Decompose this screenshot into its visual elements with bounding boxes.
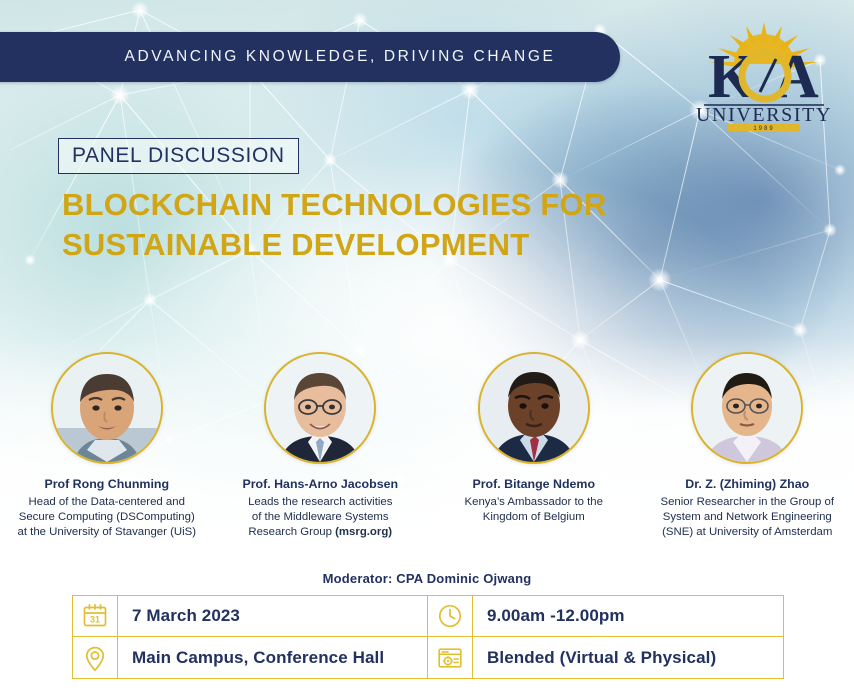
presentation-screen-icon xyxy=(428,637,473,678)
detail-value-format: Blended (Virtual & Physical) xyxy=(473,637,783,678)
speaker-desc-line: Kenya’s Ambassador to the xyxy=(465,495,603,510)
svg-text:A: A xyxy=(774,43,819,111)
speaker-list: Prof Rong Chunming Head of the Data-cent… xyxy=(0,352,854,540)
logo-year: 1989 xyxy=(753,126,774,132)
speaker-name: Prof. Hans-Arno Jacobsen xyxy=(242,477,398,493)
calendar-day-number: 31 xyxy=(90,615,100,625)
detail-cell-time: 9.00am -12.00pm xyxy=(428,596,783,637)
detail-value-date: 7 March 2023 xyxy=(118,596,427,636)
event-title-line-1: BLOCKCHAIN TECHNOLOGIES FOR xyxy=(62,185,662,225)
speaker-desc-line: at the University of Stavanger (UiS) xyxy=(17,525,196,540)
panel-discussion-tag: PANEL DISCUSSION xyxy=(58,138,299,174)
speaker-desc-line: Secure Computing (DSComputing) xyxy=(17,510,196,525)
speaker-description: Kenya’s Ambassador to the Kingdom of Bel… xyxy=(465,495,603,526)
svg-text:UNIVERSITY: UNIVERSITY xyxy=(696,104,832,126)
avatar xyxy=(691,352,803,464)
speaker-desc-line: Kingdom of Belgium xyxy=(465,510,603,525)
detail-cell-format: Blended (Virtual & Physical) xyxy=(428,637,783,678)
event-title-line-2: SUSTAINABLE DEVELOPMENT xyxy=(62,225,662,265)
speaker-card: Dr. Z. (Zhiming) Zhao Senior Researcher … xyxy=(641,352,854,540)
portrait-zhiming-zhao xyxy=(693,354,801,462)
calendar-icon: 31 xyxy=(73,596,118,636)
tagline-text: ADVANCING KNOWLEDGE, DRIVING CHANGE xyxy=(70,32,610,82)
speaker-description: Head of the Data-centered and Secure Com… xyxy=(17,495,196,541)
event-poster: ADVANCING KNOWLEDGE, DRIVING CHANGE K A xyxy=(0,0,854,700)
detail-value-time: 9.00am -12.00pm xyxy=(473,596,783,636)
portrait-hans-arno-jacobsen xyxy=(266,354,374,462)
speaker-desc-text: Research Group xyxy=(248,526,335,538)
speaker-desc-line: Senior Researcher in the Group of xyxy=(661,495,835,510)
speaker-desc-link: (msrg.org) xyxy=(335,526,392,538)
speaker-desc-line: (SNE) at University of Amsterdam xyxy=(661,525,835,540)
moderator-text: Moderator: CPA Dominic Ojwang xyxy=(323,571,532,586)
speaker-name: Prof Rong Chunming xyxy=(44,477,169,493)
speaker-card: Prof Rong Chunming Head of the Data-cent… xyxy=(0,352,214,540)
speaker-desc-line: Leads the research activities xyxy=(248,495,392,510)
speaker-name: Prof. Bitange Ndemo xyxy=(472,477,595,493)
speaker-desc-line: Research Group (msrg.org) xyxy=(248,525,392,540)
speaker-card: Prof. Bitange Ndemo Kenya’s Ambassador t… xyxy=(427,352,641,540)
clock-icon xyxy=(428,596,473,636)
avatar xyxy=(264,352,376,464)
detail-cell-venue: Main Campus, Conference Hall xyxy=(73,637,428,678)
kca-university-logo: K A UNIVERSITY 1989 xyxy=(688,14,840,132)
speaker-desc-line: System and Network Engineering xyxy=(661,510,835,525)
speaker-desc-line: Head of the Data-centered and xyxy=(17,495,196,510)
speaker-name: Dr. Z. (Zhiming) Zhao xyxy=(685,477,809,493)
detail-value-venue: Main Campus, Conference Hall xyxy=(118,637,427,678)
speaker-desc-line: of the Middleware Systems xyxy=(248,510,392,525)
event-details-table: 31 7 March 2023 9.00am -12.00pm Main xyxy=(72,595,784,679)
avatar xyxy=(478,352,590,464)
panel-discussion-label: PANEL DISCUSSION xyxy=(72,144,285,168)
event-title: BLOCKCHAIN TECHNOLOGIES FOR SUSTAINABLE … xyxy=(62,185,662,266)
speaker-description: Leads the research activities of the Mid… xyxy=(248,495,392,541)
avatar xyxy=(51,352,163,464)
detail-cell-date: 31 7 March 2023 xyxy=(73,596,428,637)
portrait-rong-chunming xyxy=(53,354,161,462)
speaker-card: Prof. Hans-Arno Jacobsen Leads the resea… xyxy=(214,352,428,540)
tagline-label: ADVANCING KNOWLEDGE, DRIVING CHANGE xyxy=(125,48,556,66)
svg-text:K: K xyxy=(708,43,756,111)
portrait-bitange-ndemo xyxy=(480,354,588,462)
moderator-line: Moderator: CPA Dominic Ojwang xyxy=(0,571,854,586)
speaker-description: Senior Researcher in the Group of System… xyxy=(661,495,835,541)
location-pin-icon xyxy=(73,637,118,678)
